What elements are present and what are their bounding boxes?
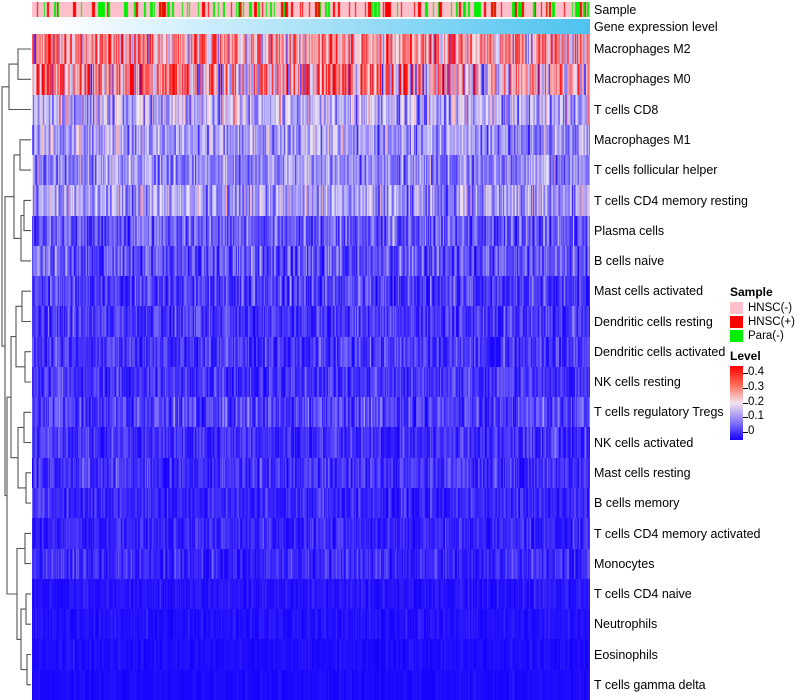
heatmap-row-cells xyxy=(32,337,590,367)
row-label: T cells CD4 memory activated xyxy=(594,528,761,541)
legend-item-label: HNSC(-) xyxy=(748,303,792,315)
heatmap-row xyxy=(32,397,590,427)
colorbar-tick-mark xyxy=(743,403,748,404)
row-label: T cells CD8 xyxy=(594,104,658,117)
colorbar-gradient xyxy=(730,366,743,440)
heatmap-row xyxy=(32,276,590,306)
heatmap-row xyxy=(32,518,590,548)
heatmap-row xyxy=(32,549,590,579)
legend-swatch xyxy=(730,302,743,314)
legend-sample-title: Sample xyxy=(730,286,800,300)
row-label: Plasma cells xyxy=(594,225,664,238)
heatmap-row xyxy=(32,125,590,155)
row-label: T cells CD4 naive xyxy=(594,588,692,601)
legend-item-label: Para(-) xyxy=(748,331,784,343)
colorbar-tick-label: 0.3 xyxy=(748,382,764,394)
heatmap-row-cells xyxy=(32,639,590,669)
legend-swatch xyxy=(730,316,743,328)
legend-swatch xyxy=(730,330,743,342)
colorbar-tick-label: 0.1 xyxy=(748,411,764,423)
heatmap-row xyxy=(32,488,590,518)
heatmap-row-cells xyxy=(32,367,590,397)
heatmap-row xyxy=(32,367,590,397)
row-label: Dendritic cells resting xyxy=(594,316,713,329)
heatmap-row xyxy=(32,458,590,488)
heatmap-row-cells xyxy=(32,397,590,427)
heatmap-row-cells xyxy=(32,246,590,276)
heatmap-row-cells xyxy=(32,609,590,639)
row-label: Mast cells activated xyxy=(594,285,703,298)
heatmap-row-cells xyxy=(32,95,590,125)
row-label: Neutrophils xyxy=(594,618,657,631)
heatmap-row-cells xyxy=(32,216,590,246)
colorbar: 0.40.30.20.10 xyxy=(730,366,800,440)
gene-expression-annotation-track xyxy=(32,19,590,34)
legend-sample: Sample HNSC(-) HNSC(+) Para(-) xyxy=(730,286,800,343)
heatmap-row xyxy=(32,185,590,215)
heatmap-row xyxy=(32,34,590,64)
heatmap-row xyxy=(32,639,590,669)
colorbar-tick-mark xyxy=(743,388,748,389)
heatmap-row-cells xyxy=(32,64,590,94)
heatmap-row-cells xyxy=(32,579,590,609)
heatmap-row-cells xyxy=(32,125,590,155)
colorbar-tick-mark xyxy=(743,432,748,433)
row-label: NK cells resting xyxy=(594,376,681,389)
legend-item-label: HNSC(+) xyxy=(748,317,795,329)
legend-panel: Sample HNSC(-) HNSC(+) Para(-) Level 0.4… xyxy=(730,286,800,440)
heatmap-row-cells xyxy=(32,427,590,457)
row-label: Macrophages M0 xyxy=(594,73,691,86)
row-label: T cells regulatory Tregs xyxy=(594,406,724,419)
column-annotation-tracks xyxy=(32,0,590,34)
heatmap-figure: Sample Gene expression level Macrophages… xyxy=(0,0,800,700)
heatmap-row xyxy=(32,216,590,246)
heatmap-row-cells xyxy=(32,488,590,518)
heatmap-row-cells xyxy=(32,185,590,215)
heatmap-row-cells xyxy=(32,549,590,579)
row-label: Monocytes xyxy=(594,558,654,571)
heatmap-body xyxy=(32,34,590,700)
heatmap-row-cells xyxy=(32,670,590,700)
gene-expression-annotation-label: Gene expression level xyxy=(594,21,718,34)
row-labels: Macrophages M2Macrophages M0T cells CD8M… xyxy=(594,34,744,700)
legend-level: Level 0.40.30.20.10 xyxy=(730,350,800,440)
row-label: T cells CD4 memory resting xyxy=(594,195,748,208)
heatmap-row xyxy=(32,609,590,639)
colorbar-tick-label: 0 xyxy=(748,426,754,438)
heatmap-row xyxy=(32,670,590,700)
heatmap-row xyxy=(32,337,590,367)
colorbar-tick-label: 0.4 xyxy=(748,367,764,379)
sample-annotation-track xyxy=(32,2,590,17)
row-label: Dendritic cells activated xyxy=(594,346,725,359)
colorbar-ticks: 0.40.30.20.10 xyxy=(748,366,798,440)
row-label: B cells naive xyxy=(594,255,664,268)
row-label: Macrophages M2 xyxy=(594,43,691,56)
heatmap-row xyxy=(32,246,590,276)
heatmap-row xyxy=(32,427,590,457)
row-label: T cells follicular helper xyxy=(594,164,717,177)
heatmap-row-cells xyxy=(32,518,590,548)
row-dendrogram xyxy=(0,34,32,700)
colorbar-tick-mark xyxy=(743,417,748,418)
heatmap-row-cells xyxy=(32,155,590,185)
legend-level-title: Level xyxy=(730,350,800,364)
heatmap-row-cells xyxy=(32,458,590,488)
row-label: Mast cells resting xyxy=(594,467,691,480)
heatmap-row xyxy=(32,95,590,125)
legend-item: HNSC(+) xyxy=(730,316,800,329)
legend-item: Para(-) xyxy=(730,330,800,343)
heatmap-row-cells xyxy=(32,34,590,64)
row-label: Macrophages M1 xyxy=(594,134,691,147)
colorbar-tick-mark xyxy=(743,373,748,374)
heatmap-row-cells xyxy=(32,306,590,336)
row-label: B cells memory xyxy=(594,497,679,510)
heatmap-row xyxy=(32,155,590,185)
legend-item: HNSC(-) xyxy=(730,302,800,315)
heatmap-row xyxy=(32,579,590,609)
row-label: Eosinophils xyxy=(594,649,658,662)
row-label: NK cells activated xyxy=(594,437,693,450)
sample-annotation-label: Sample xyxy=(594,4,636,17)
heatmap-row xyxy=(32,306,590,336)
row-label: T cells gamma delta xyxy=(594,679,706,692)
heatmap-row xyxy=(32,64,590,94)
heatmap-row-cells xyxy=(32,276,590,306)
colorbar-tick-label: 0.2 xyxy=(748,397,764,409)
